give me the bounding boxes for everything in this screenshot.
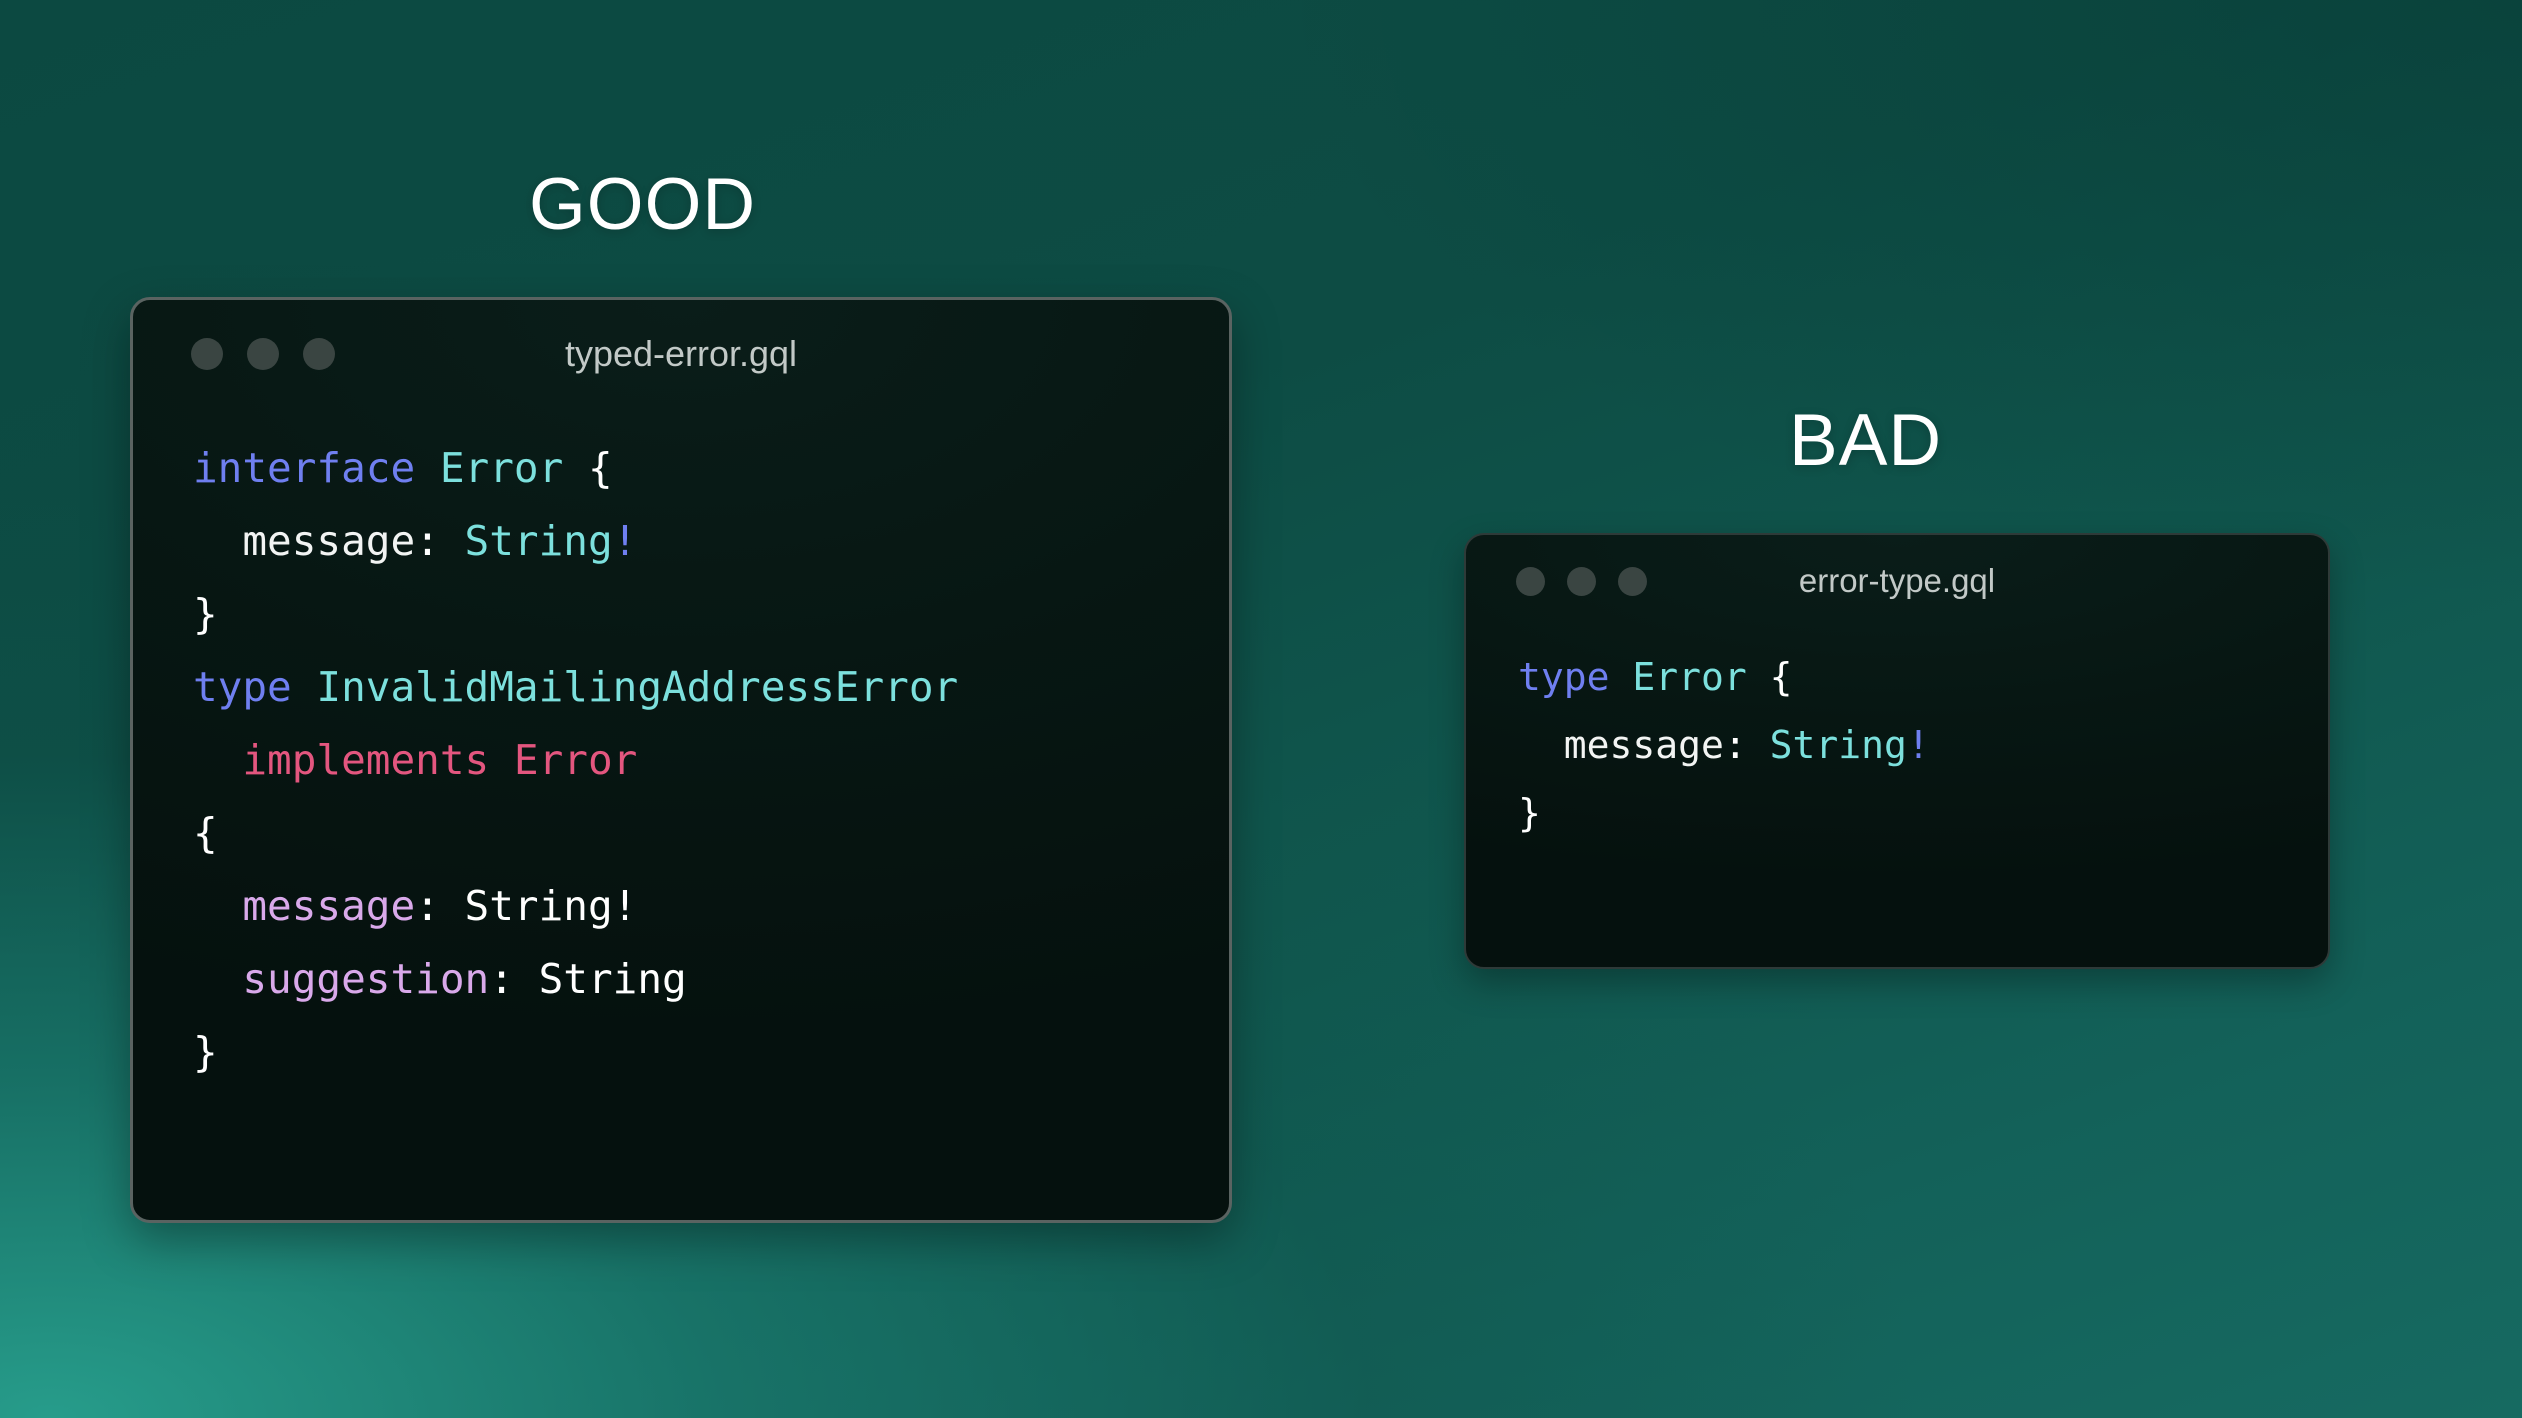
code-block-bad: type Error { message: String!} xyxy=(1466,627,2328,847)
code-token-keyword: interface xyxy=(193,444,440,492)
code-token-type: String xyxy=(1770,723,1907,767)
code-card-bad: error-type.gql type Error { message: Str… xyxy=(1464,533,2330,969)
code-token-punctuation: { xyxy=(1770,655,1793,699)
window-controls-good xyxy=(191,338,335,370)
code-token-field: message xyxy=(1518,723,1724,767)
good-label: GOOD xyxy=(529,163,756,246)
code-token-keyword: type xyxy=(193,663,316,711)
code-line: { xyxy=(193,797,1229,870)
traffic-light-close-icon[interactable] xyxy=(191,338,223,370)
traffic-light-minimize-icon[interactable] xyxy=(1567,567,1596,596)
titlebar-good: typed-error.gql xyxy=(133,300,1229,408)
titlebar-bad: error-type.gql xyxy=(1466,535,2328,627)
code-line: } xyxy=(1518,779,2328,847)
code-line: message: String! xyxy=(193,505,1229,578)
code-token-non-null: ! xyxy=(613,517,638,565)
window-controls-bad xyxy=(1516,567,1647,596)
code-block-good: interface Error { message: String!}type … xyxy=(133,408,1229,1089)
code-token-implements: implements Error xyxy=(193,736,637,784)
code-token-punctuation: : xyxy=(1724,723,1770,767)
code-token-punctuation: { xyxy=(193,809,218,857)
code-token-type: InvalidMailingAddressError xyxy=(316,663,958,711)
code-token-type: Error xyxy=(440,444,588,492)
comparison-stage: GOOD BAD typed-error.gql interface Error… xyxy=(0,0,2522,1418)
code-token-punctuation: : xyxy=(415,517,464,565)
code-line: } xyxy=(193,578,1229,651)
traffic-light-maximize-icon[interactable] xyxy=(1618,567,1647,596)
code-token-punctuation: { xyxy=(588,444,613,492)
traffic-light-maximize-icon[interactable] xyxy=(303,338,335,370)
code-token-field-accent: message xyxy=(193,882,415,930)
traffic-light-close-icon[interactable] xyxy=(1516,567,1545,596)
code-card-good: typed-error.gql interface Error { messag… xyxy=(130,297,1232,1223)
bad-label: BAD xyxy=(1789,399,1942,482)
code-token-punctuation: : xyxy=(415,882,464,930)
traffic-light-minimize-icon[interactable] xyxy=(247,338,279,370)
code-line: type InvalidMailingAddressError xyxy=(193,651,1229,724)
code-token-punctuation: } xyxy=(193,1028,218,1076)
code-line: implements Error xyxy=(193,724,1229,797)
code-line: } xyxy=(193,1016,1229,1089)
code-token-plain: String! xyxy=(465,882,638,930)
code-line: type Error { xyxy=(1518,643,2328,711)
code-token-non-null: ! xyxy=(1907,723,1930,767)
code-line: suggestion: String xyxy=(193,943,1229,1016)
code-token-punctuation: } xyxy=(1518,791,1541,835)
code-token-type: Error xyxy=(1632,655,1769,699)
code-token-field-accent: suggestion xyxy=(193,955,489,1003)
code-token-plain: String xyxy=(539,955,687,1003)
code-line: message: String! xyxy=(1518,711,2328,779)
code-line: interface Error { xyxy=(193,432,1229,505)
code-line: message: String! xyxy=(193,870,1229,943)
code-token-keyword: type xyxy=(1518,655,1632,699)
code-token-punctuation: : xyxy=(489,955,538,1003)
code-token-field: message xyxy=(193,517,415,565)
code-token-punctuation: } xyxy=(193,590,218,638)
code-token-type: String xyxy=(465,517,613,565)
